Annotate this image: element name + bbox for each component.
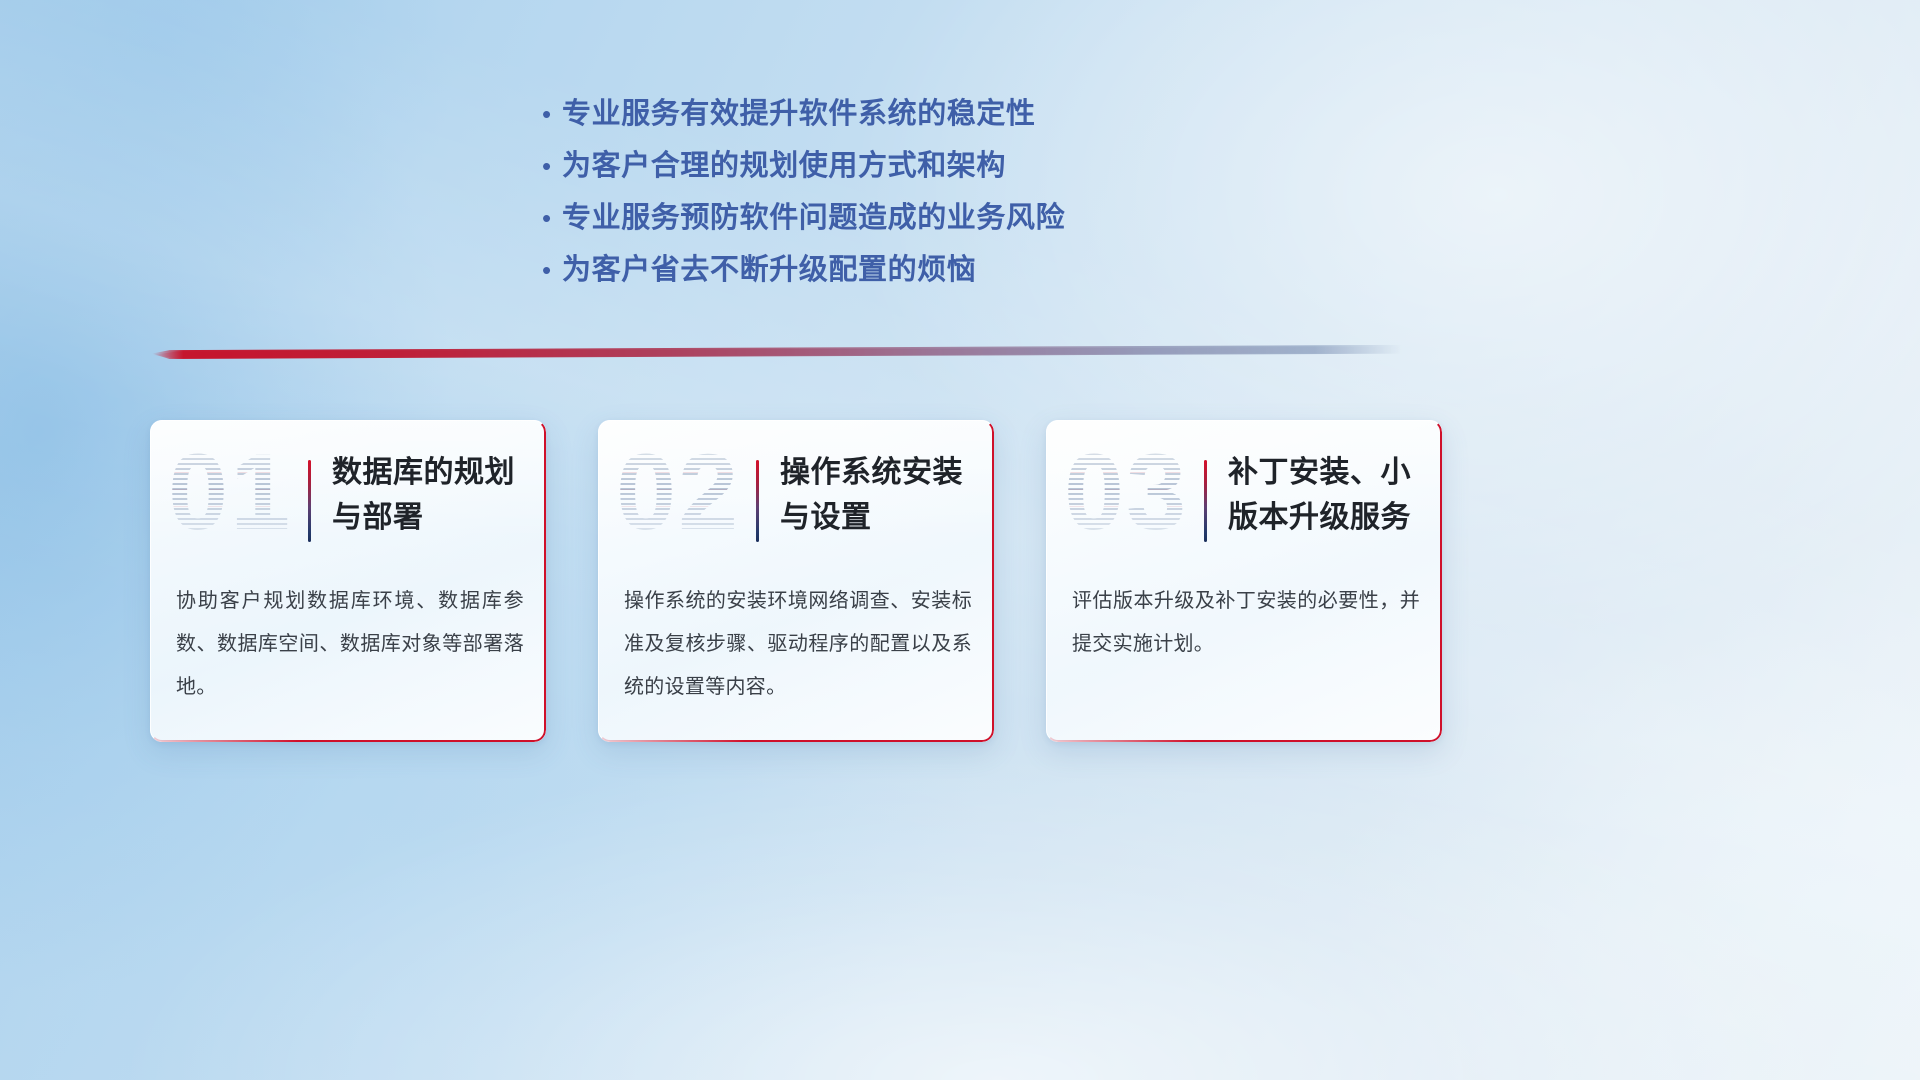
service-card-3[interactable]: 03 03 补丁安装、小版本升级服务 评估版本升级及补丁安装的必要性，并提交实施… [1046,420,1442,742]
service-card-2[interactable]: 02 02 操作系统安装与设置 操作系统的安装环境网络调查、安装标准及复核步骤、… [598,420,994,742]
card-divider-rule [756,460,759,542]
benefits-bullet-list: • 专业服务有效提升软件系统的稳定性 • 为客户合理的规划使用方式和架构 • 专… [536,92,1296,300]
card-title-3: 补丁安装、小版本升级服务 [1228,450,1428,540]
card-body-3: 评估版本升级及补丁安装的必要性，并提交实施计划。 [1072,580,1420,666]
card-divider-rule [1204,460,1207,542]
bullet-dot-icon: • [536,248,562,292]
bullet-dot-icon: • [536,144,562,188]
card-title-2: 操作系统安装与设置 [780,450,980,540]
card-number-03: 03 [1064,438,1188,546]
card-body-1: 协助客户规划数据库环境、数据库参数、数据库空间、数据库对象等部署落地。 [176,580,524,709]
section-divider [152,344,1402,366]
card-number-02: 02 [616,438,740,546]
card-divider-rule [308,460,311,542]
bullet-item-3-label: 专业服务预防软件问题造成的业务风险 [562,196,1065,240]
bullet-item-3: • 专业服务预防软件问题造成的业务风险 [536,196,1296,248]
bullet-item-2-label: 为客户合理的规划使用方式和架构 [562,144,1006,188]
bullet-item-4: • 为客户省去不断升级配置的烦恼 [536,248,1296,300]
bullet-dot-icon: • [536,196,562,240]
card-number-01: 01 [168,438,292,546]
divider-line [152,344,1402,366]
bullet-item-2: • 为客户合理的规划使用方式和架构 [536,144,1296,196]
bullet-dot-icon: • [536,92,562,136]
bullet-item-4-label: 为客户省去不断升级配置的烦恼 [562,248,976,292]
card-body-2: 操作系统的安装环境网络调查、安装标准及复核步骤、驱动程序的配置以及系统的设置等内… [624,580,972,709]
service-card-1[interactable]: 01 01 数据库的规划与部署 协助客户规划数据库环境、数据库参数、数据库空间、… [150,420,546,742]
card-title-1: 数据库的规划与部署 [332,450,532,540]
bullet-item-1: • 专业服务有效提升软件系统的稳定性 [536,92,1296,144]
bullet-item-1-label: 专业服务有效提升软件系统的稳定性 [562,92,1036,136]
slide-canvas: • 专业服务有效提升软件系统的稳定性 • 为客户合理的规划使用方式和架构 • 专… [0,0,1920,1080]
